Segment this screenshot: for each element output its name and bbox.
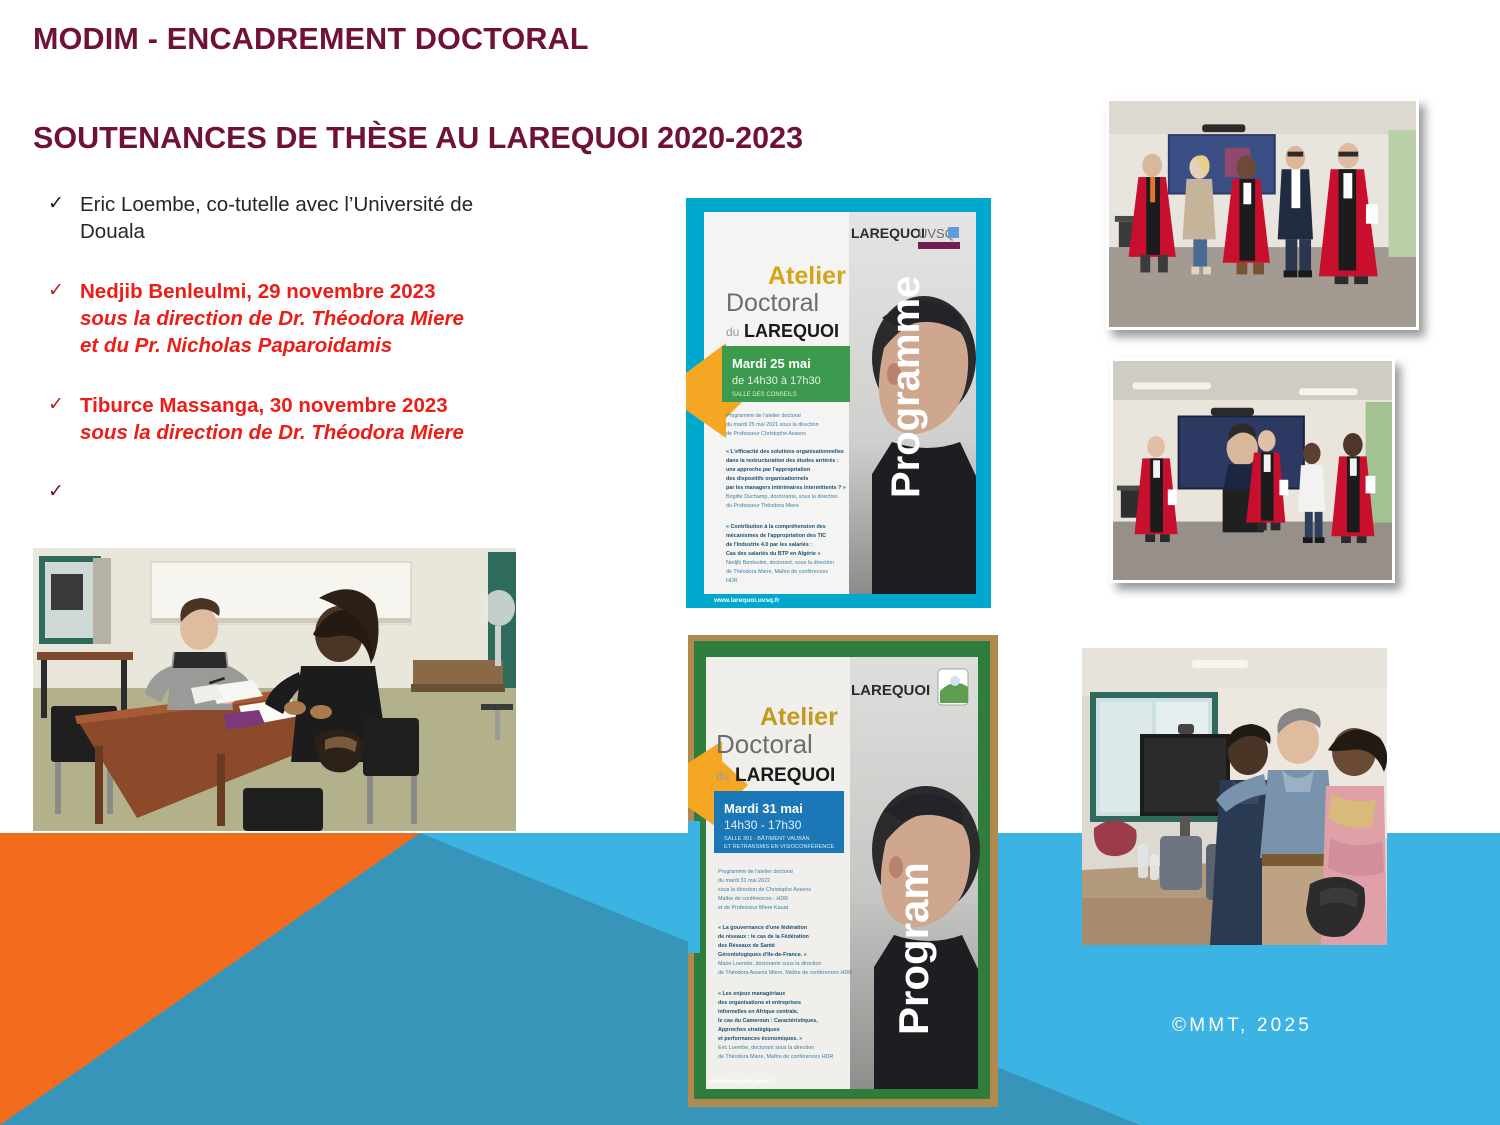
list-spacer: [44, 363, 604, 393]
svg-text:« La gouvernance d'une fédérat: « La gouvernance d'une fédération: [718, 925, 807, 931]
list-item-line: Tiburce Massanga, 30 novembre 2023: [80, 393, 604, 420]
svg-text:LAREQUOI: LAREQUOI: [735, 765, 835, 786]
svg-text:du mardi 25 mai 2021 sous la d: du mardi 25 mai 2021 sous la direction: [726, 422, 819, 428]
list-spacer: [44, 249, 604, 279]
svg-text:Programme de l'atelier doctora: Programme de l'atelier doctoral: [718, 869, 793, 875]
svg-text:www.larequoi.uvsq.fr: www.larequoi.uvsq.fr: [713, 597, 780, 604]
svg-text:du mardi 31 mai 2022: du mardi 31 mai 2022: [718, 878, 770, 884]
poster-atelier-doctoral-31-mai: Atelier Doctoral du LAREQUOI Mardi 31 ma…: [688, 635, 998, 1107]
svg-text:Gérontologiques d'Ile-de-Franc: Gérontologiques d'Ile-de-France. »: [718, 952, 807, 958]
svg-text:Atelier: Atelier: [760, 703, 838, 731]
poster-atelier-doctoral-25-mai: Atelier Doctoral du LAREQUOI Mardi 25 ma…: [686, 198, 991, 608]
svg-text:de Théodora Assens Miere, Maît: de Théodora Assens Miere, Maître de conf…: [718, 970, 852, 976]
svg-text:par les managers intérimaires: par les managers intérimaires intermitte…: [726, 485, 846, 491]
svg-text:Eric Loembe, doctorant sous la: Eric Loembe, doctorant sous la direction: [718, 1045, 814, 1051]
photo-three-people-meeting-room: [1082, 648, 1387, 945]
checkmark-icon: ✓: [44, 393, 80, 418]
svg-text:Programme de l'atelier doctora: Programme de l'atelier doctoral: [726, 413, 801, 419]
page-subtitle: SOUTENANCES DE THÈSE AU LAREQUOI 2020-20…: [33, 118, 893, 159]
checkmark-icon: ✓: [44, 192, 80, 217]
svg-text:« L'efficacité des solutions o: « L'efficacité des solutions organisatio…: [726, 449, 844, 455]
svg-text:Program: Program: [890, 862, 937, 1035]
svg-text:« Les enjeux managériaux: « Les enjeux managériaux: [718, 991, 785, 997]
svg-text:le cas du Cameroun : Caractéri: le cas du Cameroun : Caractéristiques,: [718, 1018, 818, 1024]
svg-text:de l'Industrie 4.0 par les sal: de l'Industrie 4.0 par les salariés :: [726, 542, 812, 548]
photo-two-people-working-table: [33, 548, 516, 831]
svg-text:SALLE DES CONSEILS: SALLE DES CONSEILS: [732, 392, 797, 398]
list-item-line: et du Pr. Nicholas Paparoidamis: [80, 333, 604, 360]
svg-text:Atelier: Atelier: [768, 262, 846, 290]
svg-text:« Contribution à la compréhens: « Contribution à la compréhension des: [726, 524, 826, 530]
svg-text:LAREQUOI: LAREQUOI: [744, 321, 839, 341]
svg-text:du: du: [716, 769, 729, 783]
svg-text:de Théodora Miere, Maître de c: de Théodora Miere, Maître de conférences…: [718, 1054, 833, 1060]
svg-text:www.larequoi.uvsq.fr: www.larequoi.uvsq.fr: [709, 1078, 776, 1085]
checkmark-icon: ✓: [44, 480, 80, 505]
svg-text:informelles en Afrique central: informelles en Afrique centrale,: [718, 1009, 799, 1015]
list-item: ✓ Tiburce Massanga, 30 novembre 2023 sou…: [44, 393, 604, 446]
svg-text:Approches stratégiques: Approches stratégiques: [718, 1027, 780, 1033]
checkmark-icon: ✓: [44, 279, 80, 304]
list-item: ✓ Nedjib Benleulmi, 29 novembre 2023 sou…: [44, 279, 604, 359]
thesis-defence-list: ✓ Eric Loembe, co-tutelle avec l’Univers…: [44, 192, 604, 511]
svg-text:Doctoral: Doctoral: [726, 289, 819, 317]
svg-text:de réseaux : le cas de la Fédé: de réseaux : le cas de la Fédération: [718, 934, 809, 940]
svg-text:Mardi 31 mai: Mardi 31 mai: [724, 801, 803, 816]
svg-text:une approche par l'appropriati: une approche par l'appropriation: [726, 467, 810, 473]
copyright-credit: ©MMT, 2025: [1172, 1015, 1312, 1037]
svg-text:mécanismes de l'appropriation: mécanismes de l'appropriation des TIC: [726, 533, 826, 539]
svg-text:dans la restructuration des ét: dans la restructuration des études arrié…: [726, 458, 839, 464]
photo-jury-group-robes: [1106, 98, 1419, 330]
svg-text:de Théodora Miere, Maître de c: de Théodora Miere, Maître de conférences: [726, 569, 828, 575]
list-spacer: [44, 450, 604, 480]
svg-text:Nedjib Benleulmi, doctorant, s: Nedjib Benleulmi, doctorant, sous la dir…: [726, 560, 834, 566]
svg-text:et performances économiques. »: et performances économiques. »: [718, 1036, 802, 1042]
svg-text:14h30 - 17h30: 14h30 - 17h30: [724, 818, 802, 832]
list-item-line: sous la direction de Dr. Théodora Miere: [80, 306, 604, 333]
svg-text:du: du: [726, 325, 739, 339]
svg-text:LAREQUOI: LAREQUOI: [851, 225, 925, 241]
svg-text:de Professeur Christophe Assen: de Professeur Christophe Assens: [726, 431, 806, 437]
svg-text:sous la direction de Christoph: sous la direction de Christophe Assens: [718, 887, 811, 893]
svg-text:de 14h30 à 17h30: de 14h30 à 17h30: [732, 375, 821, 387]
list-item-line: sous la direction de Dr. Théodora Miere: [80, 420, 604, 447]
list-item-line: Nedjib Benleulmi, 29 novembre 2023: [80, 279, 604, 306]
svg-text:des dispositifs organisationne: des dispositifs organisationnels: [726, 476, 808, 482]
page-title: MODIM - ENCADREMENT DOCTORAL: [33, 22, 933, 57]
svg-text:des organisations et entrepris: des organisations et entreprises: [718, 1000, 801, 1006]
list-item-empty: ✓: [44, 480, 604, 507]
svg-text:des Réseaux de Santé: des Réseaux de Santé: [718, 943, 775, 949]
svg-text:LAREQUOI: LAREQUOI: [851, 682, 930, 699]
list-item-line: Douala: [80, 219, 604, 246]
list-item: ✓ Eric Loembe, co-tutelle avec l’Univers…: [44, 192, 604, 245]
photo-jury-visioconference: [1110, 358, 1395, 583]
svg-text:HDR: HDR: [726, 578, 738, 584]
svg-text:SALLE 301 - BÂTIMENT VAUBAN: SALLE 301 - BÂTIMENT VAUBAN: [724, 835, 810, 842]
svg-text:Mardi 25 mai: Mardi 25 mai: [732, 356, 811, 371]
svg-text:Brigitte Duchamp, doctorante,: Brigitte Duchamp, doctorante, sous la di…: [726, 494, 838, 500]
svg-text:Maître de conférences - HDR: Maître de conférences - HDR: [718, 896, 788, 902]
svg-text:Programme: Programme: [884, 276, 928, 498]
list-item-line: Eric Loembe, co-tutelle avec l’Universit…: [80, 192, 604, 219]
svg-text:Cas des salariés du BTP en Alg: Cas des salariés du BTP en Algérie »: [726, 551, 820, 557]
svg-text:et de Professeur Miere Kauat: et de Professeur Miere Kauat: [718, 905, 789, 911]
svg-text:Doctoral: Doctoral: [716, 729, 813, 759]
svg-text:du Professeur Théodora Miere: du Professeur Théodora Miere: [726, 503, 799, 509]
svg-text:Marie Loembe, doctorante sous: Marie Loembe, doctorante sous la directi…: [718, 961, 821, 967]
svg-text:ET RETRANSMIS EN VISIOCONFÉREN: ET RETRANSMIS EN VISIOCONFÉRENCE: [724, 843, 835, 850]
